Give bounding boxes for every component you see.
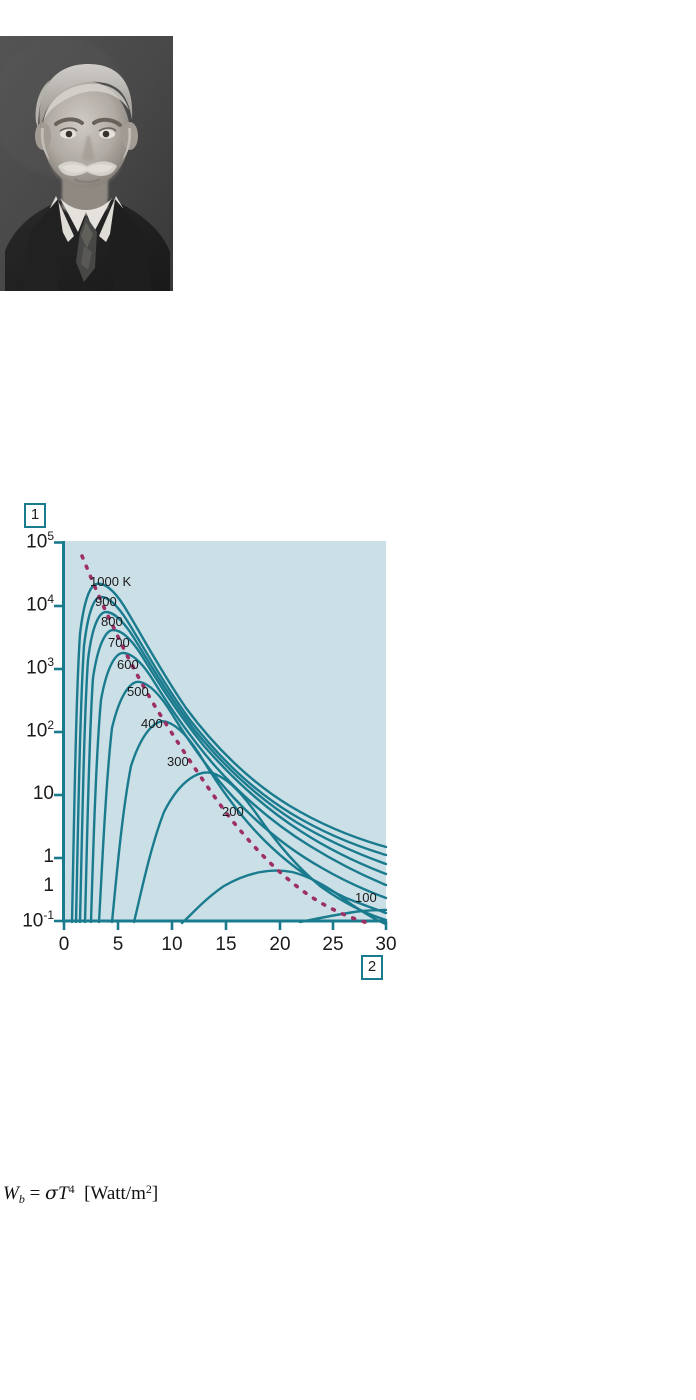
formula-equals: =	[30, 1183, 41, 1204]
chart-svg	[0, 494, 420, 994]
blackbody-radiation-chart: 105 104 103 102 10 1 1 10-1 0 5 10 15 20…	[0, 494, 420, 994]
formula-exponent: 4	[69, 1182, 75, 1196]
formula-units: [Watt/m	[84, 1183, 146, 1204]
portrait-image	[0, 36, 173, 291]
formula-sigma: σ	[45, 1182, 58, 1204]
y-axis-ticks	[54, 543, 63, 922]
formula-lhs-subscript: b	[19, 1192, 25, 1206]
formula-units-close: ]	[152, 1183, 158, 1204]
callout-marker-1[interactable]: 1	[24, 503, 46, 528]
callout-marker-2[interactable]: 2	[361, 955, 383, 980]
stefan-boltzmann-formula: Wb = σT4 [Watt/m2]	[3, 1182, 158, 1207]
portrait-photo	[0, 36, 173, 291]
formula-temperature: T	[58, 1183, 69, 1204]
formula-lhs: W	[3, 1183, 19, 1204]
